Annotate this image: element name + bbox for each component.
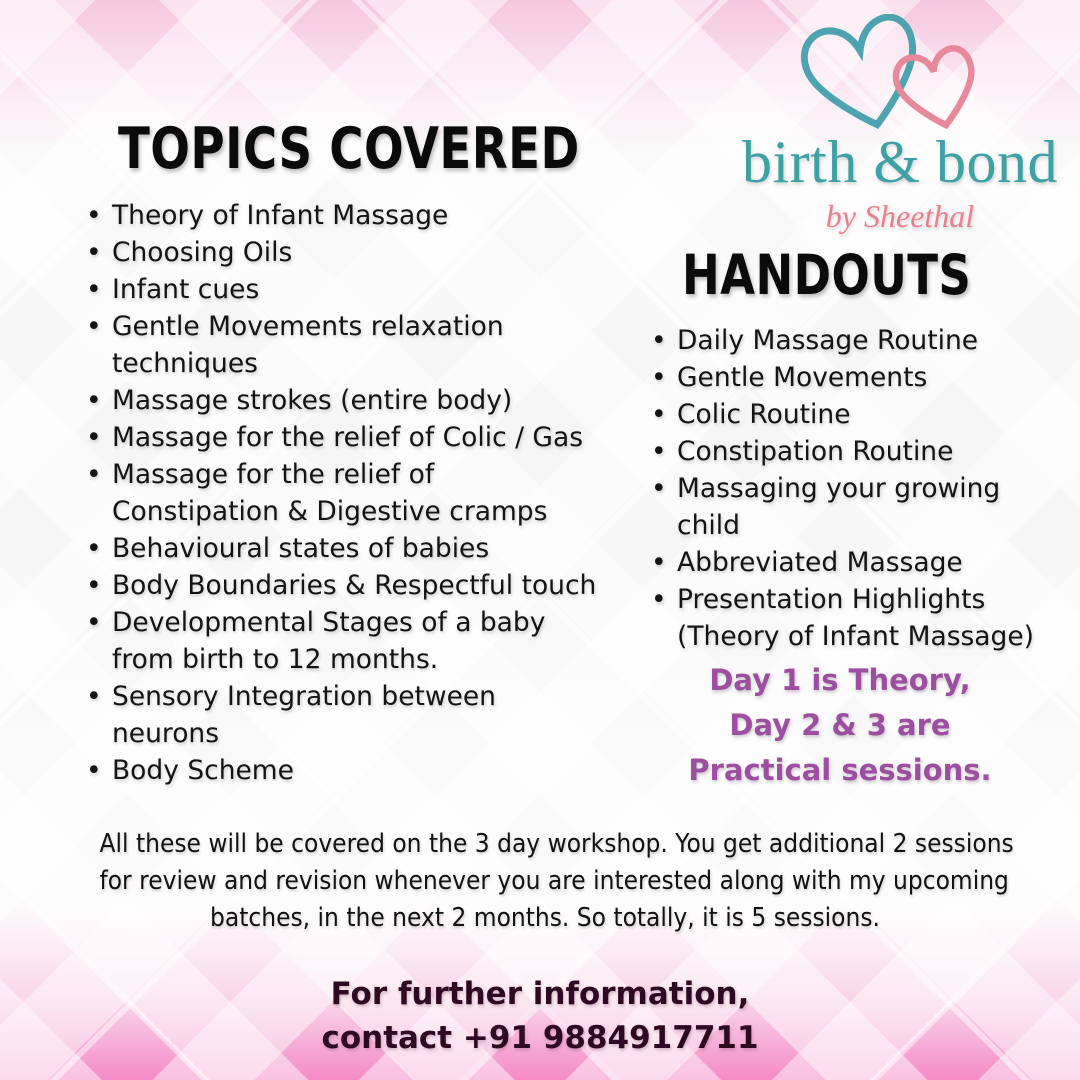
list-item: Massage for the relief of Constipation &… — [78, 456, 608, 530]
list-item: Body Boundaries & Respectful touch — [78, 567, 608, 604]
brand-logo-block: birth & bond by Sheethal — [735, 14, 1065, 235]
list-item: Developmental Stages of a baby from birt… — [78, 604, 608, 678]
footnote-line: for review and revision whenever you are… — [100, 863, 991, 900]
contact-phone[interactable]: contact +91 9884917711 — [140, 1016, 940, 1060]
topics-covered-heading: TOPICS COVERED — [118, 118, 580, 180]
poster-canvas: birth & bond by Sheethal TOPICS COVERED … — [0, 0, 1080, 1080]
list-item: Abbreviated Massage — [643, 544, 1063, 581]
list-item: Body Scheme — [78, 752, 608, 789]
list-item: Infant cues — [78, 271, 608, 308]
schedule-note-line: Practical sessions. — [620, 748, 1060, 793]
brand-name: birth & bond — [735, 132, 1065, 192]
list-item: Gentle Movements relaxation techniques — [78, 308, 608, 382]
contact-info[interactable]: For further information, contact +91 988… — [140, 972, 940, 1060]
schedule-note-line: Day 2 & 3 are — [620, 703, 1060, 748]
list-item: Colic Routine — [643, 396, 1063, 433]
list-item: Massage strokes (entire body) — [78, 382, 608, 419]
handouts-list: Daily Massage Routine Gentle Movements C… — [643, 322, 1063, 655]
list-item: Sensory Integration between neurons — [78, 678, 608, 752]
list-item: Presentation Highlights (Theory of Infan… — [643, 581, 1063, 655]
list-item: Theory of Infant Massage — [78, 197, 608, 234]
contact-line: For further information, — [140, 972, 940, 1016]
footnote-line: All these will be covered on the 3 day w… — [100, 826, 991, 863]
handouts-heading: HANDOUTS — [682, 245, 971, 305]
brand-tagline: by Sheethal — [735, 198, 1065, 235]
list-item: Constipation Routine — [643, 433, 1063, 470]
schedule-note: Day 1 is Theory, Day 2 & 3 are Practical… — [620, 658, 1060, 793]
list-item: Massage for the relief of Colic / Gas — [78, 419, 608, 456]
list-item: Daily Massage Routine — [643, 322, 1063, 359]
footnote-line: batches, in the next 2 months. So totall… — [100, 900, 991, 937]
list-item: Choosing Oils — [78, 234, 608, 271]
list-item: Gentle Movements — [643, 359, 1063, 396]
two-hearts-icon — [735, 14, 1065, 132]
topics-covered-list: Theory of Infant Massage Choosing Oils I… — [78, 197, 608, 789]
schedule-note-line: Day 1 is Theory, — [620, 658, 1060, 703]
list-item: Behavioural states of babies — [78, 530, 608, 567]
list-item: Massaging your growing child — [643, 470, 1063, 544]
workshop-footnote: All these will be covered on the 3 day w… — [100, 826, 991, 937]
